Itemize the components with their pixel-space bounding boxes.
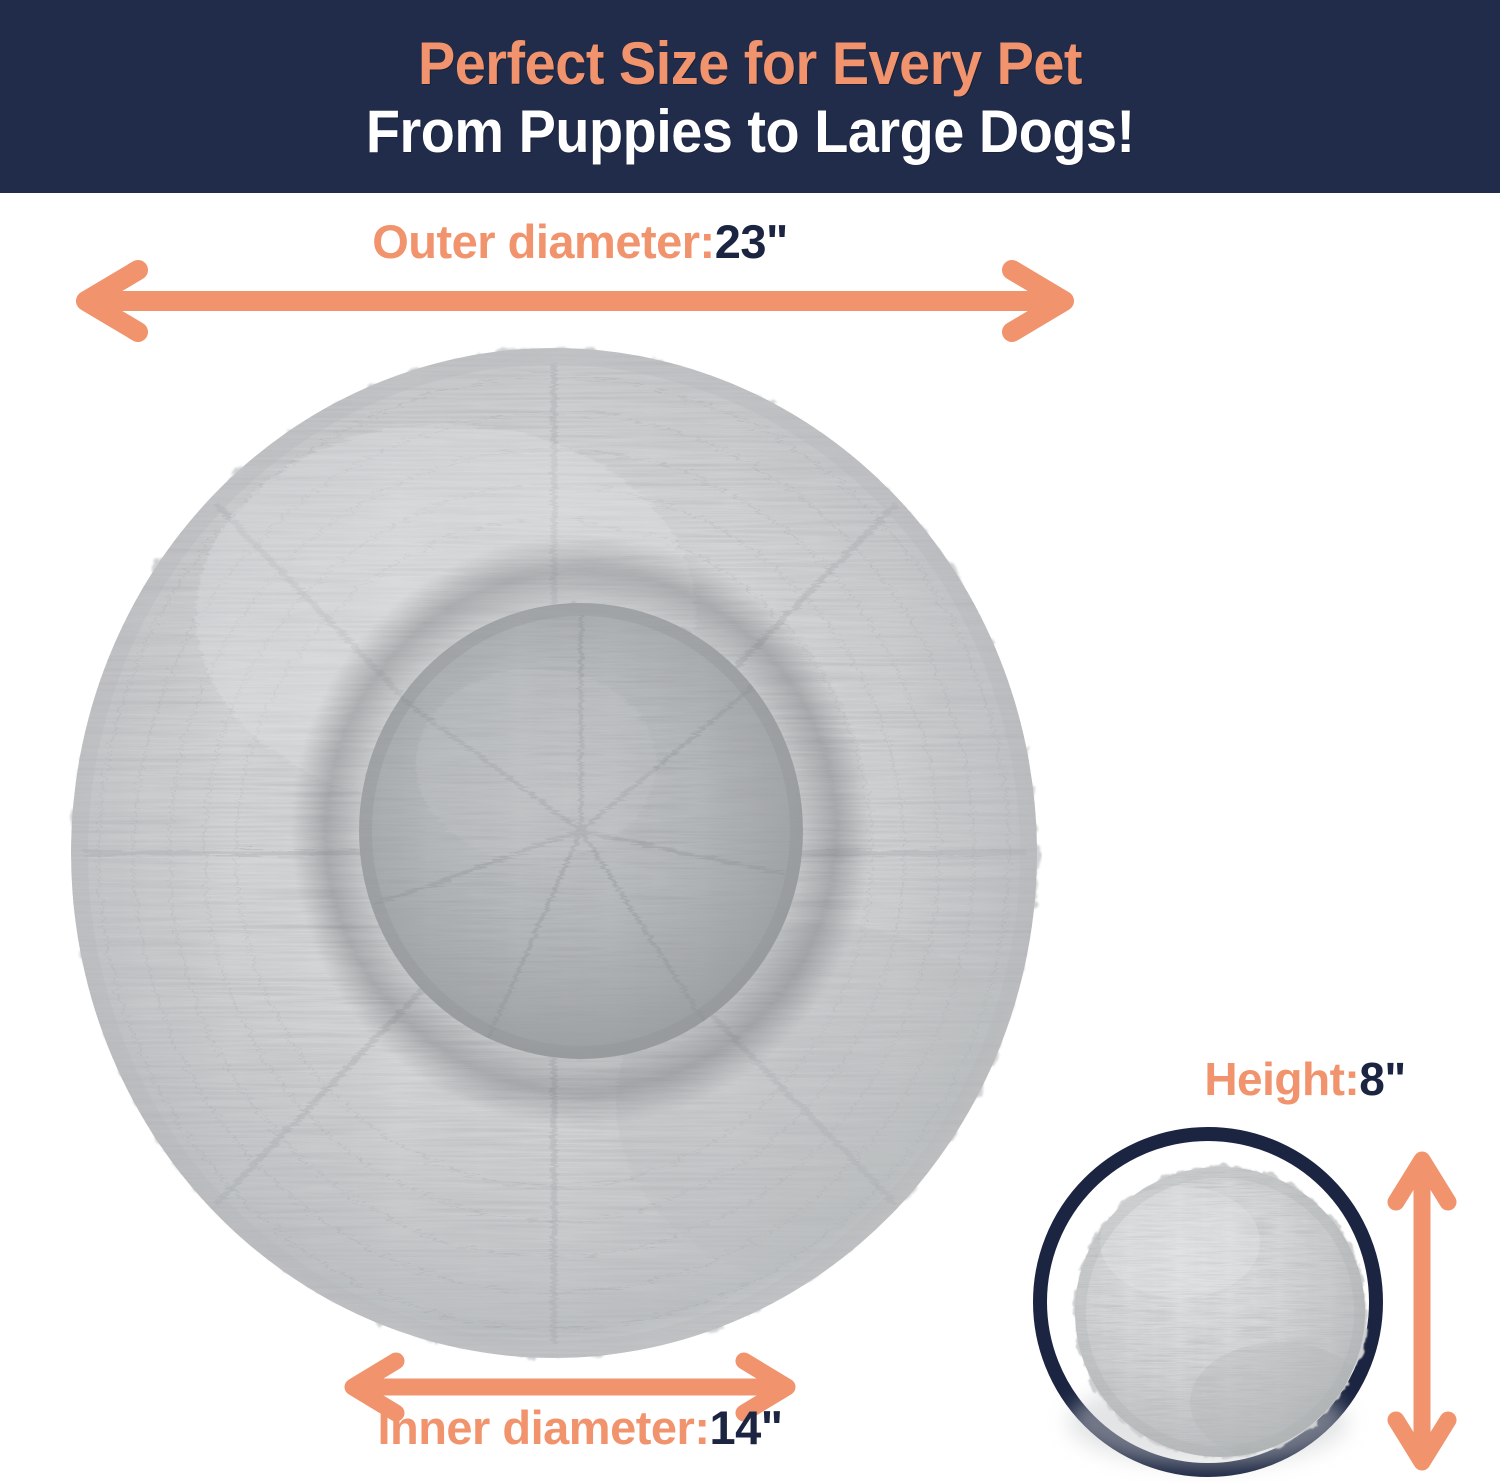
inner-diameter-value: 14" xyxy=(709,1401,782,1454)
pet-bed-side-illustration xyxy=(1030,1122,1390,1482)
pet-bed-top-view xyxy=(66,344,1042,1362)
inner-diameter-label-text: Inner diameter: xyxy=(377,1401,709,1454)
inner-diameter-label: Inner diameter:14" xyxy=(240,1400,920,1455)
outer-diameter-arrow-icon xyxy=(70,262,1080,340)
height-value: 8" xyxy=(1359,1053,1405,1105)
pet-bed-illustration xyxy=(66,344,1042,1362)
height-arrow-icon xyxy=(1386,1150,1458,1472)
outer-diameter-value: 23" xyxy=(715,215,788,268)
page-subtitle: From Puppies to Large Dogs! xyxy=(366,100,1135,163)
pet-bed-side-view xyxy=(1030,1122,1390,1482)
page-title: Perfect Size for Every Pet xyxy=(418,34,1082,94)
outer-diameter-label: Outer diameter:23" xyxy=(0,214,1160,269)
height-label: Height:8" xyxy=(1140,1052,1470,1106)
header-banner: Perfect Size for Every Pet From Puppies … xyxy=(0,0,1500,193)
outer-diameter-label-text: Outer diameter: xyxy=(372,215,714,268)
height-label-text: Height: xyxy=(1204,1053,1359,1105)
